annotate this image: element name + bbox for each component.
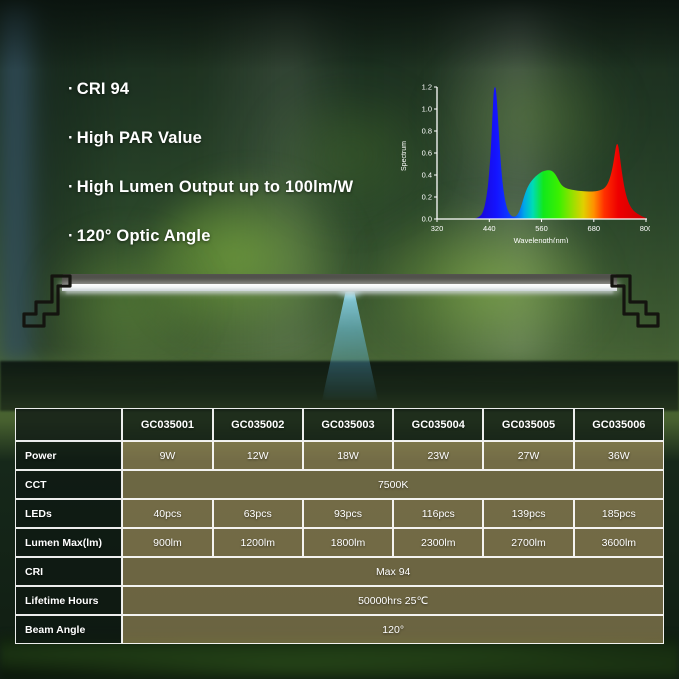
mounting-bracket-left-icon [20, 272, 76, 330]
specification-table: GC035001 GC035002 GC035003 GC035004 GC03… [15, 408, 664, 644]
table-cell: 63pcs [213, 499, 303, 528]
feature-item-label: 120° Optic Angle [77, 227, 211, 245]
table-cell: 27W [483, 441, 573, 470]
table-header-cell: GC035006 [574, 408, 664, 441]
chart-ytick: 0.6 [422, 149, 432, 158]
chart-ytick: 1.2 [422, 83, 432, 92]
spectrum-curve [472, 87, 646, 219]
chart-xtick: 320 [431, 224, 444, 233]
fixture-underglow [66, 290, 613, 295]
table-row-cri: CRI Max 94 [15, 557, 664, 586]
table-cell: 2700lm [483, 528, 573, 557]
feature-item-par: ·High PAR Value [68, 129, 388, 148]
row-label: Lifetime Hours [15, 586, 122, 615]
chart-ytick: 0.0 [422, 215, 432, 224]
table-cell: 36W [574, 441, 664, 470]
feature-item-lumen: ·High Lumen Output up to 100lm/W [68, 178, 388, 197]
table-cell: 139pcs [483, 499, 573, 528]
feature-item-label: CRI 94 [77, 80, 130, 98]
feature-item-label: High PAR Value [77, 129, 202, 147]
table-cell: 1200lm [213, 528, 303, 557]
feature-item-label: High Lumen Output up to 100lm/W [77, 178, 354, 196]
spectrum-chart: Spectrum 0.0 0.2 0.4 0.6 0.8 1.0 1.2 [398, 68, 650, 243]
bullet-dot: · [68, 129, 74, 147]
table-header-cell [15, 408, 122, 441]
chart-xtick: 560 [535, 224, 548, 233]
feature-item-cri: ·CRI 94 [68, 80, 388, 99]
row-label: CRI [15, 557, 122, 586]
spectrum-chart-svg: Spectrum 0.0 0.2 0.4 0.6 0.8 1.0 1.2 [398, 68, 650, 243]
table-cell: 185pcs [574, 499, 664, 528]
table-cell: 40pcs [122, 499, 212, 528]
chart-ytick: 0.8 [422, 127, 432, 136]
table-header-cell: GC035003 [303, 408, 393, 441]
table-cell: 2300lm [393, 528, 483, 557]
table-cell-merged: 50000hrs 25℃ [122, 586, 664, 615]
table-cell: 116pcs [393, 499, 483, 528]
chart-xlabel: Wavelength(nm) [514, 236, 569, 243]
background-top-shade [0, 0, 679, 70]
table-header-cell: GC035002 [213, 408, 303, 441]
table-cell: 900lm [122, 528, 212, 557]
table-header-cell: GC035001 [122, 408, 212, 441]
chart-xtick: 440 [483, 224, 496, 233]
bullet-dot: · [68, 80, 74, 98]
chart-ytick: 0.2 [422, 193, 432, 202]
feature-item-optic-angle: ·120° Optic Angle [68, 227, 388, 246]
table-row-leds: LEDs 40pcs 63pcs 93pcs 116pcs 139pcs 185… [15, 499, 664, 528]
product-infographic: ·CRI 94 ·High PAR Value ·High Lumen Outp… [0, 0, 679, 679]
chart-ylabel: Spectrum [401, 141, 408, 171]
table-header-cell: GC035005 [483, 408, 573, 441]
bullet-dot: · [68, 227, 74, 245]
table-row-lumen-max: Lumen Max(lm) 900lm 1200lm 1800lm 2300lm… [15, 528, 664, 557]
table-header-row: GC035001 GC035002 GC035003 GC035004 GC03… [15, 408, 664, 441]
table-cell: 9W [122, 441, 212, 470]
table-cell: 18W [303, 441, 393, 470]
table-cell-merged: 7500K [122, 470, 664, 499]
bullet-dot: · [68, 178, 74, 196]
chart-ytick: 1.0 [422, 105, 432, 114]
table-cell-merged: 120° [122, 615, 664, 644]
chart-xtick: 800 [640, 224, 650, 233]
table-cell: 1800lm [303, 528, 393, 557]
row-label: LEDs [15, 499, 122, 528]
row-label: Beam Angle [15, 615, 122, 644]
row-label: CCT [15, 470, 122, 499]
table-cell: 23W [393, 441, 483, 470]
table-row-lifetime-hours: Lifetime Hours 50000hrs 25℃ [15, 586, 664, 615]
row-label: Lumen Max(lm) [15, 528, 122, 557]
mounting-bracket-right-icon [606, 272, 662, 330]
table-cell: 12W [213, 441, 303, 470]
table-cell: 93pcs [303, 499, 393, 528]
table-cell: 3600lm [574, 528, 664, 557]
table-row-beam-angle: Beam Angle 120° [15, 615, 664, 644]
table-cell-merged: Max 94 [122, 557, 664, 586]
feature-list: ·CRI 94 ·High PAR Value ·High Lumen Outp… [68, 80, 388, 276]
led-grow-light-fixture [62, 274, 617, 296]
chart-xtick: 680 [588, 224, 601, 233]
row-label: Power [15, 441, 122, 470]
table-header-cell: GC035004 [393, 408, 483, 441]
table-row-power: Power 9W 12W 18W 23W 27W 36W [15, 441, 664, 470]
table-row-cct: CCT 7500K [15, 470, 664, 499]
chart-ytick: 0.4 [422, 171, 432, 180]
